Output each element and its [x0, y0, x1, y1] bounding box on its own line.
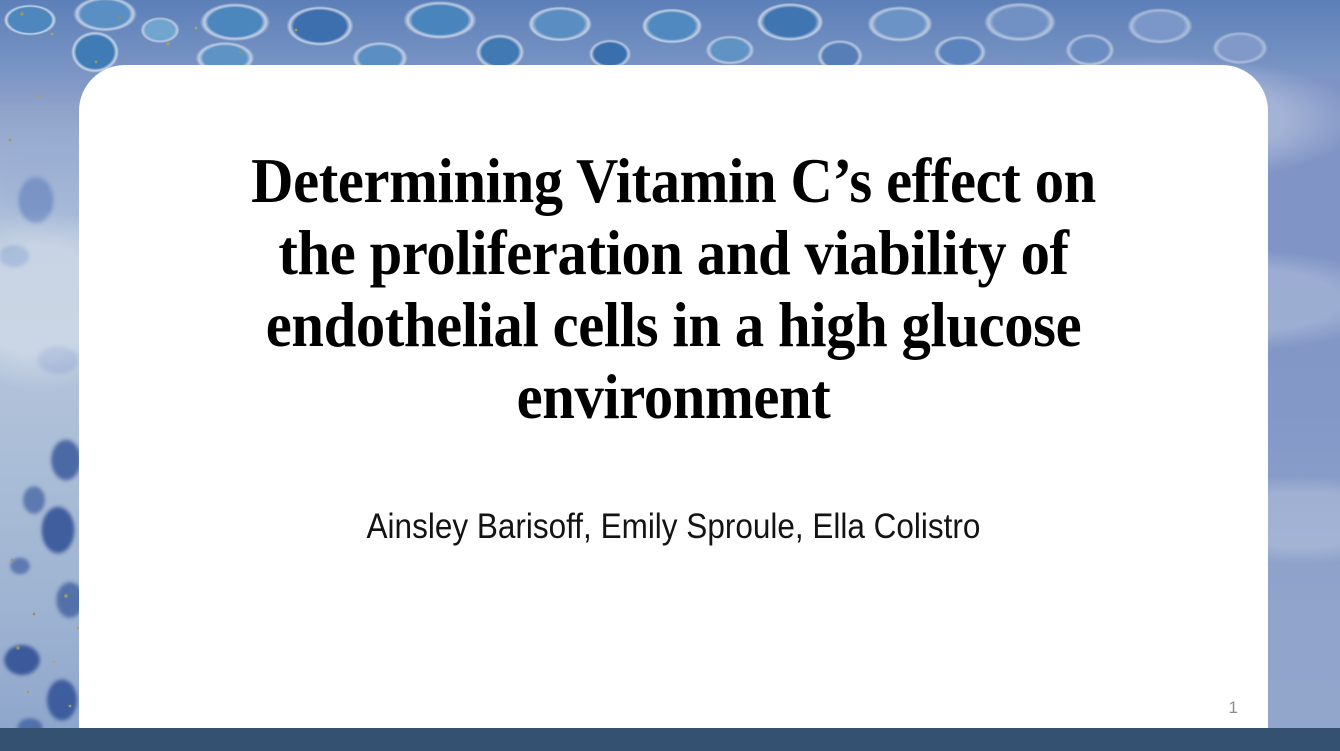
presentation-slide: Determining Vitamin C’s effect on the pr…: [0, 0, 1340, 751]
author-list: Ainsley Barisoff, Emily Sproule, Ella Co…: [192, 505, 1154, 549]
footer-bar: [0, 728, 1340, 751]
title-line-2: the proliferation and viability of: [176, 217, 1170, 289]
page-title: Determining Vitamin C’s effect on the pr…: [176, 145, 1170, 433]
title-line-1: Determining Vitamin C’s effect on: [176, 145, 1170, 217]
slide-content-card: Determining Vitamin C’s effect on the pr…: [79, 65, 1268, 728]
slide-number: 1: [1229, 698, 1238, 718]
title-line-3: endothelial cells in a high glucose: [176, 289, 1170, 361]
title-line-4: environment: [176, 361, 1170, 433]
